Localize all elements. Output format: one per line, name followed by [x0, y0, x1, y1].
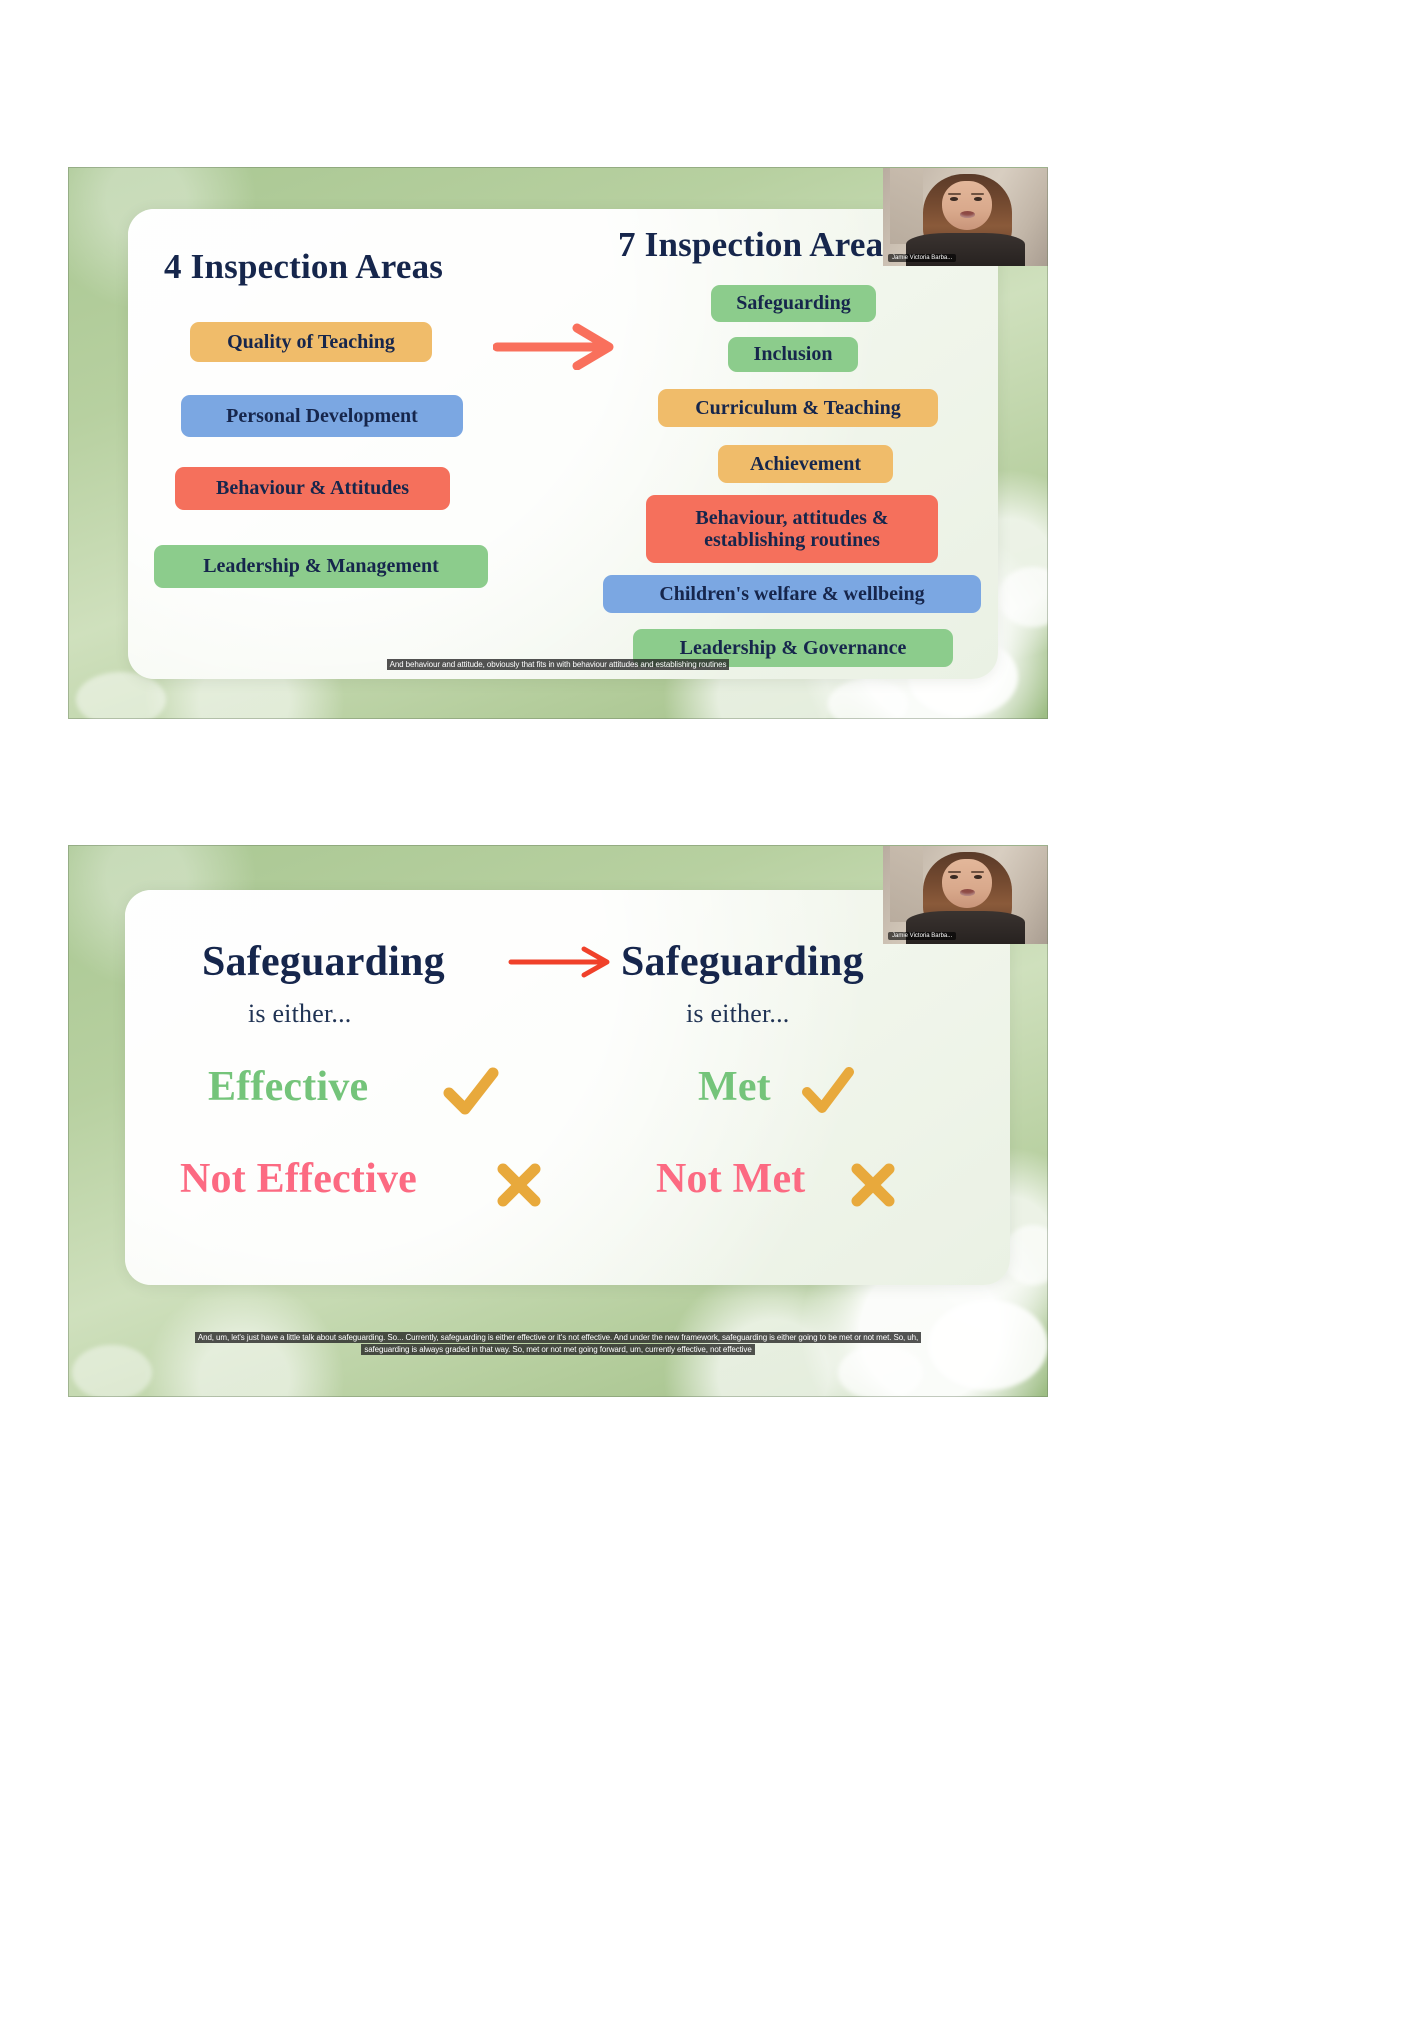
left-safeguarding-title: Safeguarding	[202, 938, 445, 986]
inspection-area-pill-personal-development[interactable]: Personal Development	[181, 395, 463, 437]
right-arrow-icon	[508, 945, 613, 979]
right-status-met-label: Met	[698, 1063, 771, 1111]
inspection-area-pill-childrens-welfare-wellbeing[interactable]: Children's welfare & wellbeing	[603, 575, 981, 613]
pill-label: Behaviour, attitudes & establishing rout…	[695, 507, 888, 552]
inspection-area-pill-behaviour-attitudes-routines[interactable]: Behaviour, attitudes & establishing rout…	[646, 495, 938, 563]
pill-label: Behaviour & Attitudes	[216, 477, 409, 499]
left-safeguarding-subtitle: is either...	[248, 999, 352, 1029]
right-safeguarding-subtitle: is either...	[686, 999, 790, 1029]
left-status-not-effective-label: Not Effective	[180, 1155, 417, 1203]
webcam-wall	[890, 168, 923, 244]
pill-label: Leadership & Management	[203, 555, 439, 577]
webcam-participant-name: Jamie Victoria Barba...	[888, 932, 956, 940]
inspection-area-pill-curriculum-teaching[interactable]: Curriculum & Teaching	[658, 389, 938, 427]
webcam-overlay[interactable]: Jamie Victoria Barba...	[883, 846, 1048, 944]
webcam-participant-name: Jamie Victoria Barba...	[888, 254, 956, 262]
webcam-overlay[interactable]: Jamie Victoria Barba...	[883, 168, 1048, 266]
inspection-area-pill-quality-of-teaching[interactable]: Quality of Teaching	[190, 322, 432, 362]
check-icon	[802, 1067, 854, 1115]
pill-label: Quality of Teaching	[227, 331, 395, 353]
slide-frame-inspection-areas[interactable]: 4 Inspection Areas Quality of Teaching P…	[68, 167, 1048, 719]
pill-label: Inclusion	[754, 343, 833, 365]
pill-label: Safeguarding	[736, 292, 850, 314]
slide-frame-safeguarding[interactable]: Safeguarding is either... Effective Not …	[68, 845, 1048, 1397]
caption-line: safeguarding is always graded in that wa…	[361, 1344, 754, 1355]
pill-label: Curriculum & Teaching	[695, 397, 901, 419]
inspection-area-pill-leadership-management[interactable]: Leadership & Management	[154, 545, 488, 588]
right-status-not-met-label: Not Met	[656, 1155, 806, 1203]
caption-overlay: And, um, let's just have a little talk a…	[68, 1332, 1048, 1355]
pill-label: Personal Development	[226, 405, 418, 427]
inspection-area-pill-achievement[interactable]: Achievement	[718, 445, 893, 483]
webcam-wall	[890, 846, 923, 922]
cross-icon	[495, 1161, 543, 1209]
webcam-face	[942, 859, 992, 908]
right-arrow-icon	[493, 322, 621, 370]
inspection-area-pill-behaviour-attitudes[interactable]: Behaviour & Attitudes	[175, 467, 450, 510]
webcam-mouth	[960, 211, 975, 218]
pill-label: Leadership & Governance	[680, 637, 907, 659]
right-column-heading: 7 Inspection Areas	[618, 225, 897, 265]
left-column-heading: 4 Inspection Areas	[164, 247, 443, 287]
left-status-effective-label: Effective	[208, 1063, 368, 1111]
floral-decoration	[76, 672, 166, 719]
pill-label: Children's welfare & wellbeing	[659, 583, 924, 605]
webcam-face	[942, 181, 992, 230]
caption-overlay: And behaviour and attitude, obviously th…	[68, 659, 1048, 670]
caption-line: And, um, let's just have a little talk a…	[195, 1332, 921, 1343]
inspection-area-pill-safeguarding[interactable]: Safeguarding	[711, 285, 876, 322]
cross-icon	[849, 1161, 897, 1209]
inspection-area-pill-inclusion[interactable]: Inclusion	[728, 337, 858, 372]
webcam-mouth	[960, 889, 975, 896]
caption-line: And behaviour and attitude, obviously th…	[387, 659, 730, 670]
check-icon	[443, 1067, 499, 1117]
right-safeguarding-title: Safeguarding	[621, 938, 864, 986]
pill-label: Achievement	[750, 453, 861, 475]
